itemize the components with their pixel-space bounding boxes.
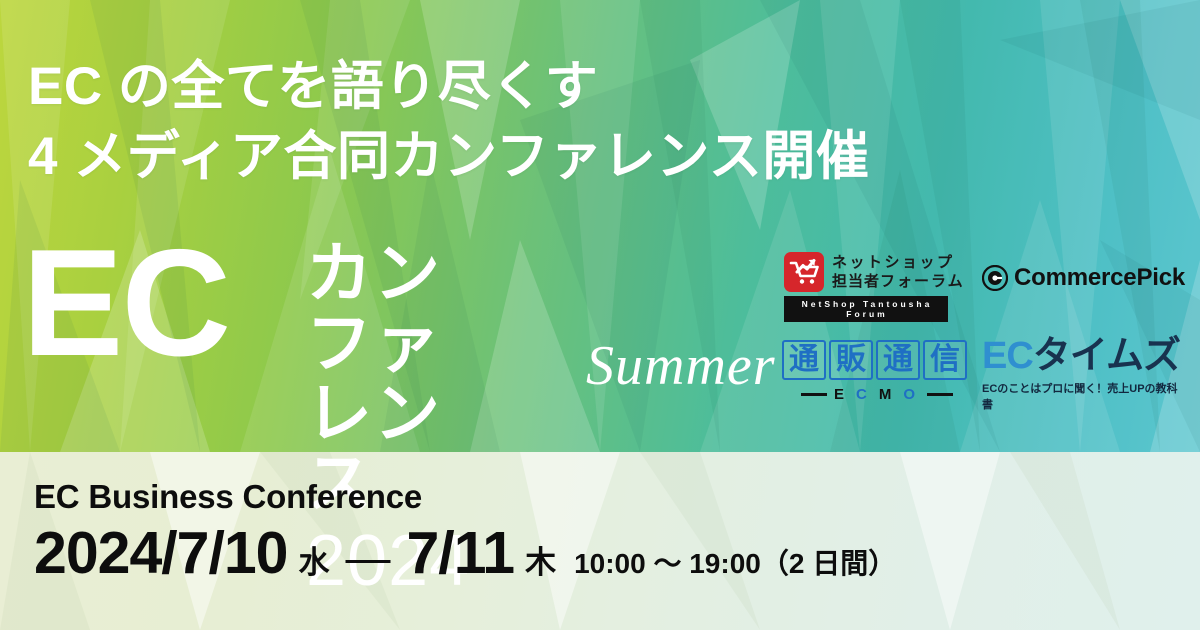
logo-ec-times: ECタイムズ ECのことはプロに聞く！売上UPの教科書 bbox=[982, 336, 1188, 412]
footer-date-line: 2024/7/10 水 — 7/11 木 10:00 〜 19:00（2 日間） bbox=[34, 522, 896, 584]
footer-info: EC Business Conference 2024/7/10 水 — 7/1… bbox=[34, 478, 896, 584]
target-circle-icon bbox=[982, 265, 1008, 291]
tt-char-2: 販 bbox=[829, 340, 873, 380]
event-time: 10:00 〜 19:00（2 日間） bbox=[574, 542, 896, 582]
headline-line-1: EC の全てを語り尽くす bbox=[28, 52, 1178, 122]
ec-conference-banner: EC の全てを語り尽くす 4 メディア合同カンファレンス開催 EC カンファレン… bbox=[0, 0, 1200, 630]
ecmo-dash-right bbox=[927, 393, 953, 396]
footer-english-title: EC Business Conference bbox=[34, 478, 896, 516]
commercepick-text: CommercePick bbox=[1014, 264, 1185, 292]
day-start: 水 bbox=[298, 537, 329, 582]
tt-char-3: 通 bbox=[876, 340, 920, 380]
conference-kana: カンファレンス bbox=[306, 238, 470, 518]
ecmo-letter-c: C bbox=[856, 386, 872, 403]
media-logos: ネットショップ 担当者フォーラム NetShop Tantousha Forum… bbox=[778, 250, 1188, 415]
ecmo-letter-m: M bbox=[879, 386, 897, 403]
date-end: 7/11 bbox=[406, 522, 514, 584]
logo-commercepick: CommercePick bbox=[982, 264, 1185, 292]
logo-tsuuhan-tsuushin: 通 販 通 信 E C M O bbox=[782, 340, 972, 403]
cart-icon-svg bbox=[784, 252, 824, 292]
netshop-line-2-bold: 担当者 bbox=[832, 273, 880, 290]
netshop-line-2-thin: フォーラム bbox=[880, 273, 965, 290]
ectimes-kana: タイムズ bbox=[1033, 335, 1180, 377]
ectimes-ec: EC bbox=[982, 335, 1033, 377]
ec-wordmark: EC bbox=[22, 228, 229, 378]
tt-char-4: 信 bbox=[923, 340, 967, 380]
ecmo-letter-e: E bbox=[834, 386, 849, 403]
day-end: 木 bbox=[525, 537, 556, 582]
date-range-dash: — bbox=[345, 532, 390, 584]
ecmo-sublabel: E C M O bbox=[782, 386, 972, 403]
tt-char-1: 通 bbox=[782, 340, 826, 380]
logo-netshop-tantousha-forum: ネットショップ 担当者フォーラム NetShop Tantousha Forum bbox=[784, 252, 965, 322]
ecmo-letter-o: O bbox=[903, 386, 920, 403]
season-label: Summer bbox=[586, 334, 776, 398]
headline: EC の全てを語り尽くす 4 メディア合同カンファレンス開催 bbox=[28, 52, 1178, 193]
shopping-cart-uptrend-icon bbox=[784, 252, 824, 292]
ecmo-dash-left bbox=[801, 393, 827, 396]
netshop-romaji-bar: NetShop Tantousha Forum bbox=[784, 296, 948, 322]
ectimes-tagline: ECのことはプロに聞く！売上UPの教科書 bbox=[982, 380, 1188, 412]
headline-line-2: 4 メディア合同カンファレンス開催 bbox=[28, 122, 1178, 192]
netshop-line-1: ネットショップ bbox=[832, 255, 965, 271]
date-start: 2024/7/10 bbox=[34, 522, 287, 584]
